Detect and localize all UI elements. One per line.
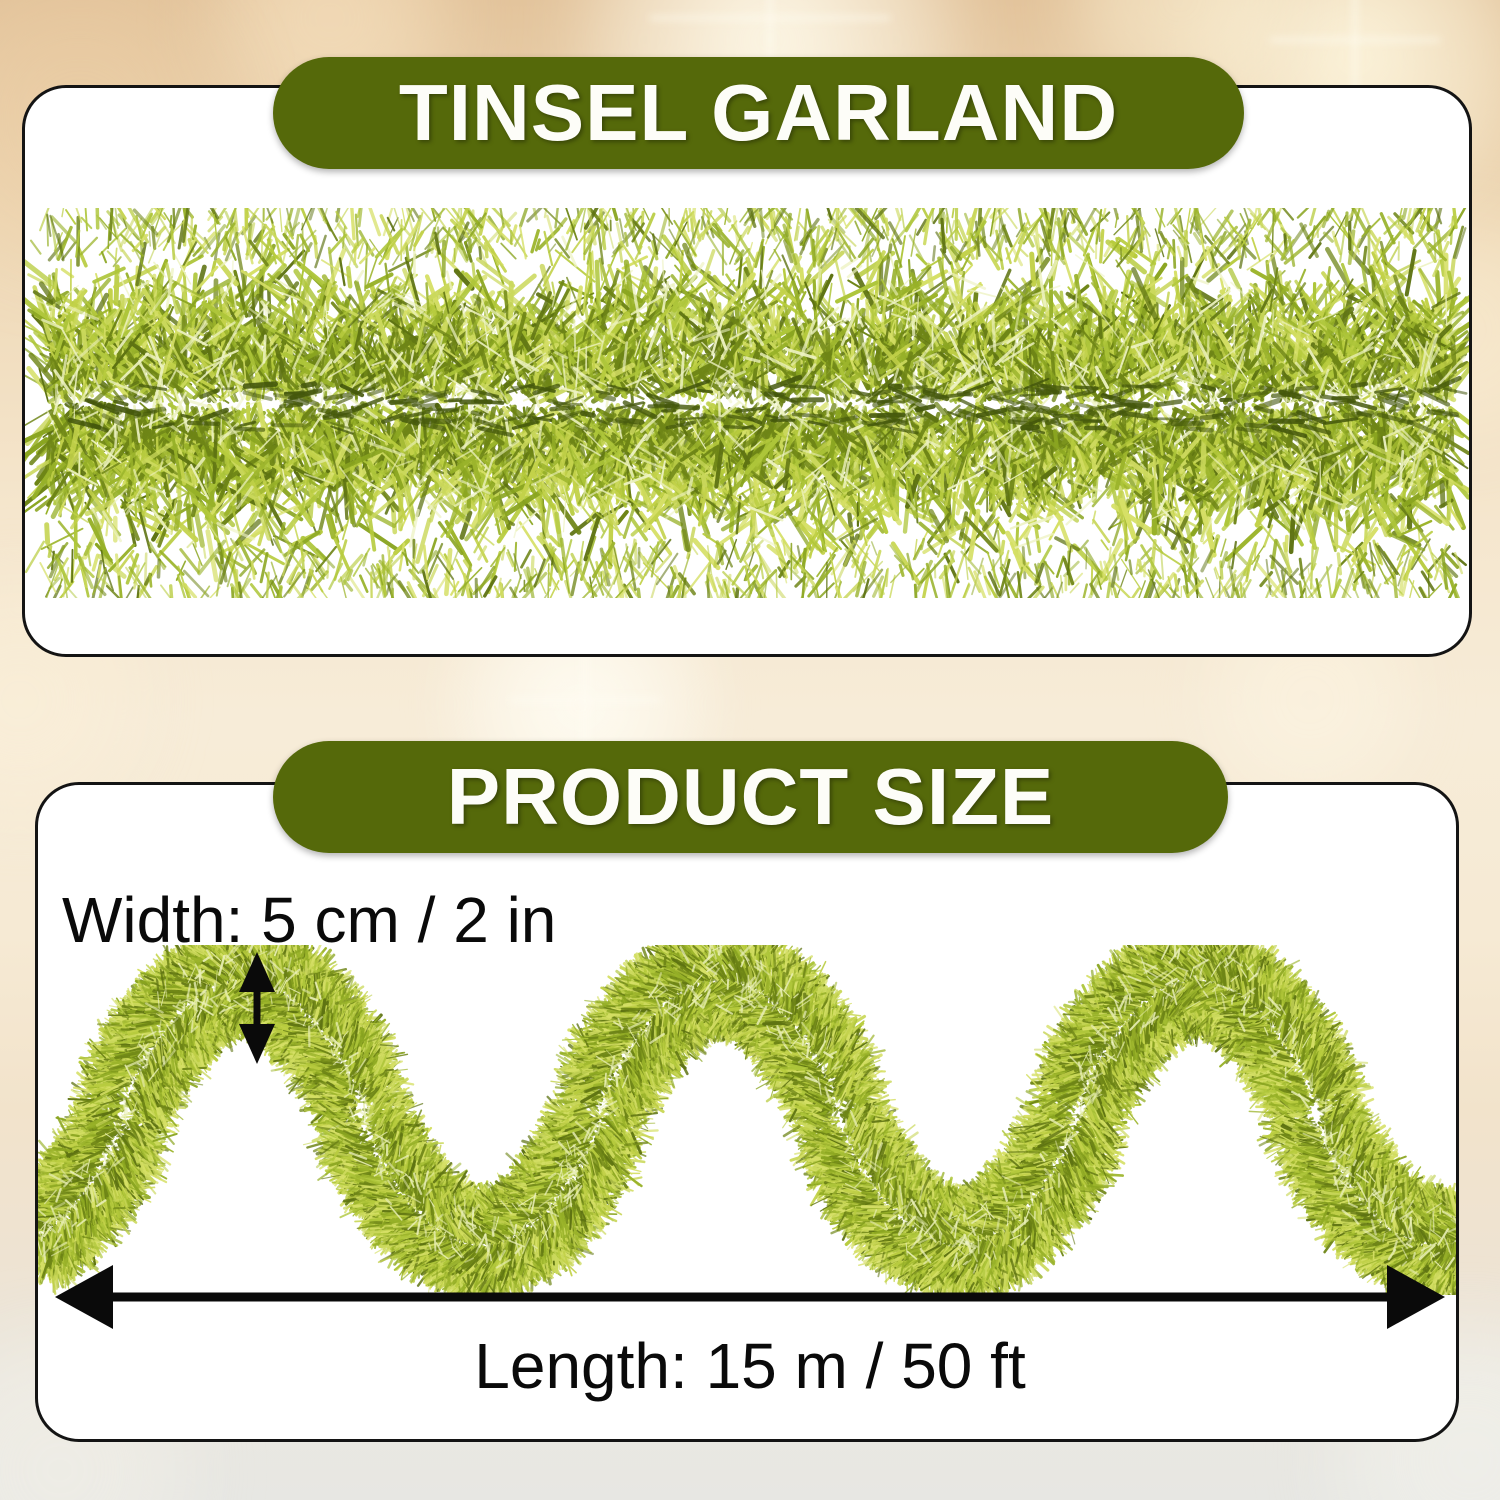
- banner-tinsel-garland-label: TINSEL GARLAND: [399, 73, 1118, 153]
- length-double-arrow-icon: [55, 1263, 1445, 1331]
- banner-product-size: PRODUCT SIZE: [273, 741, 1228, 853]
- tinsel-rope-svg: [25, 208, 1472, 598]
- tinsel-rope-closeup: [25, 208, 1472, 598]
- width-double-arrow-icon: [222, 952, 292, 1064]
- banner-product-size-label: PRODUCT SIZE: [447, 757, 1055, 837]
- width-dimension-label: Width: 5 cm / 2 in: [62, 888, 556, 952]
- panel-tinsel-garland: [22, 85, 1472, 657]
- infographic-canvas: TINSEL GARLAND PRODUCT SIZE Width: 5 cm …: [0, 0, 1500, 1500]
- banner-tinsel-garland: TINSEL GARLAND: [273, 57, 1244, 169]
- tinsel-strands: [25, 208, 1472, 598]
- length-dimension-label: Length: 15 m / 50 ft: [0, 1334, 1500, 1398]
